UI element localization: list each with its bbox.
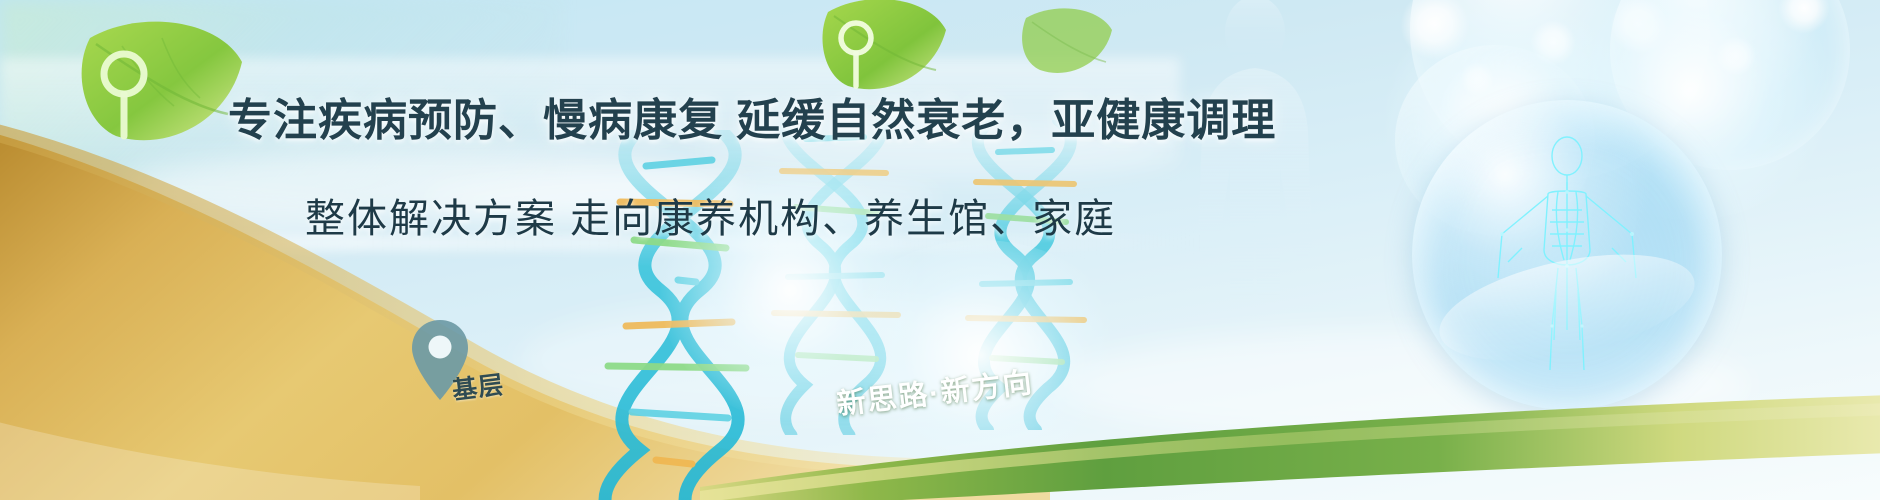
banner-subheadline: 整体解决方案 走向康养机构、养生馆、家庭 xyxy=(0,186,1880,244)
human-silhouette-icon xyxy=(1160,0,1350,322)
light-spark xyxy=(1530,20,1576,66)
promo-banner: 新思路·新方向 基层 专注疾病预防、慢病康复 延缓自然衰老，亚健康调理 整体解决… xyxy=(0,0,1880,500)
pin-label: 基层 xyxy=(450,365,506,407)
light-spark xyxy=(1716,36,1756,76)
human-anatomy-icon xyxy=(1492,130,1642,380)
banner-headline: 专注疾病预防、慢病康复 延缓自然衰老，亚健康调理 xyxy=(0,84,1880,148)
leaf-icon xyxy=(1020,0,1115,85)
